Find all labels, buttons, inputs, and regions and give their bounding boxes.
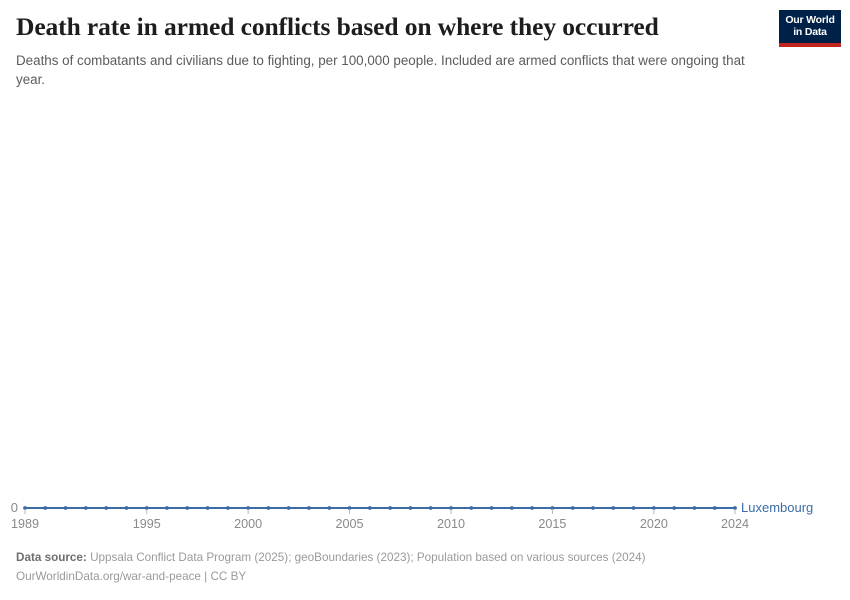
data-point[interactable] [490, 506, 494, 510]
chart-page: Death rate in armed conflicts based on w… [0, 0, 850, 600]
data-point[interactable] [611, 506, 615, 510]
data-point[interactable] [510, 506, 514, 510]
owid-logo-line2: in Data [784, 27, 836, 39]
data-point[interactable] [327, 506, 331, 510]
data-point[interactable] [104, 506, 108, 510]
x-axis-tick-label: 1995 [133, 517, 161, 528]
data-point[interactable] [672, 506, 676, 510]
x-axis-tick-label: 2005 [336, 517, 364, 528]
data-point[interactable] [713, 506, 717, 510]
x-axis-tick-label: 2000 [234, 517, 262, 528]
data-point[interactable] [469, 506, 473, 510]
x-axis-tick-label: 2010 [437, 517, 465, 528]
owid-logo[interactable]: Our World in Data [779, 10, 841, 47]
chart-footer: Data source: Uppsala Conflict Data Progr… [16, 548, 834, 587]
chart-plot-area[interactable]: 019891995200020052010201520202024Luxembo… [0, 96, 850, 528]
x-axis-tick-label: 2015 [538, 517, 566, 528]
data-point[interactable] [84, 506, 88, 510]
x-axis-tick-label: 2020 [640, 517, 668, 528]
data-point[interactable] [125, 506, 129, 510]
data-point[interactable] [267, 506, 271, 510]
x-axis-tick-label: 2024 [721, 517, 749, 528]
data-point[interactable] [206, 506, 210, 510]
chart-subtitle: Deaths of combatants and civilians due t… [16, 51, 746, 89]
data-point[interactable] [632, 506, 636, 510]
owid-url-link[interactable]: OurWorldinData.org/war-and-peace | CC BY [16, 570, 246, 583]
line-chart-svg[interactable]: 019891995200020052010201520202024Luxembo… [0, 96, 850, 528]
chart-header: Death rate in armed conflicts based on w… [16, 12, 761, 89]
data-point[interactable] [287, 506, 291, 510]
data-point[interactable] [64, 506, 68, 510]
data-point[interactable] [226, 506, 230, 510]
data-point[interactable] [185, 506, 189, 510]
data-point[interactable] [530, 506, 534, 510]
data-source-text: Uppsala Conflict Data Program (2025); ge… [90, 551, 645, 564]
data-source-line: Data source: Uppsala Conflict Data Progr… [16, 548, 834, 568]
page-title: Death rate in armed conflicts based on w… [16, 12, 761, 42]
data-point[interactable] [429, 506, 433, 510]
footer-link-line[interactable]: OurWorldinData.org/war-and-peace | CC BY [16, 567, 834, 587]
data-point[interactable] [307, 506, 311, 510]
data-point[interactable] [571, 506, 575, 510]
data-point[interactable] [388, 506, 392, 510]
data-point[interactable] [43, 506, 47, 510]
data-point[interactable] [591, 506, 595, 510]
data-point[interactable] [409, 506, 413, 510]
series-end-label-luxembourg[interactable]: Luxembourg [741, 500, 813, 515]
data-point[interactable] [693, 506, 697, 510]
y-axis-zero-label: 0 [11, 500, 18, 515]
data-point[interactable] [165, 506, 169, 510]
x-axis-tick-label: 1989 [11, 517, 39, 528]
data-point[interactable] [368, 506, 372, 510]
data-source-label: Data source: [16, 551, 87, 564]
